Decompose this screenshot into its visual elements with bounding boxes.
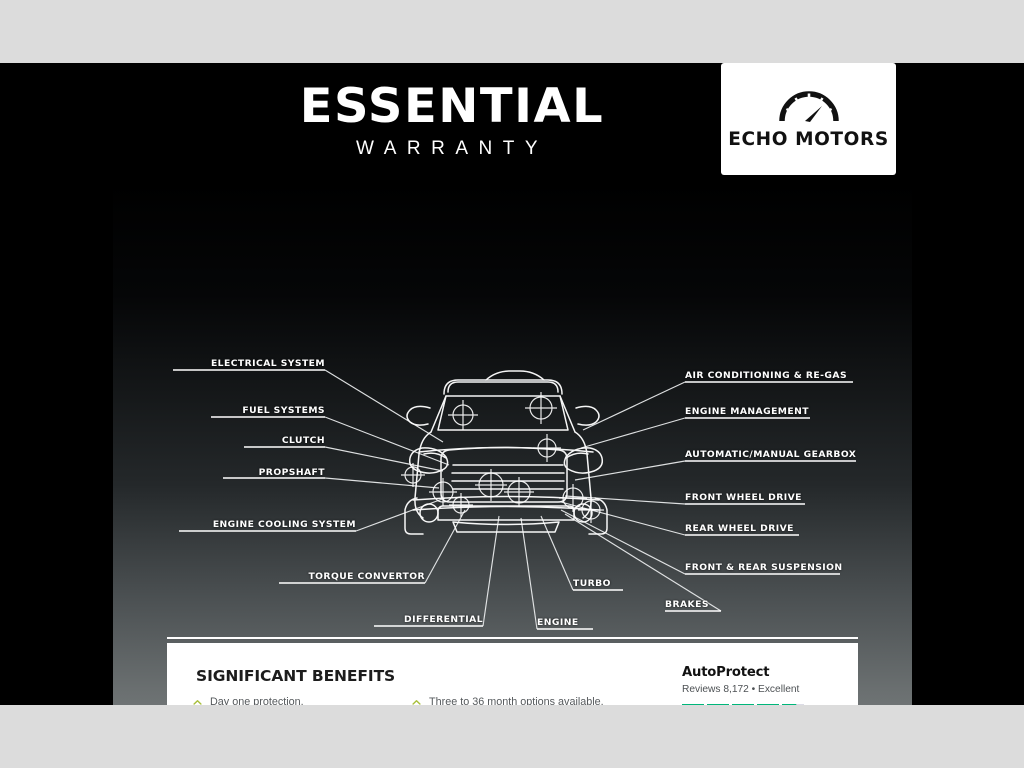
diagram-label-automatic-manual-gearbox: AUTOMATIC/MANUAL GEARBOX: [685, 449, 856, 460]
diagram-label-electrical-system: ELECTRICAL SYSTEM: [173, 358, 325, 369]
significant-benefits-panel: SIGNIFICANT BENEFITS Day one protection.…: [167, 643, 858, 705]
diagram-label-engine: ENGINE: [537, 617, 579, 628]
diagram-label-engine-management: ENGINE MANAGEMENT: [685, 406, 809, 417]
diagram-label-air-conditioning-re-gas: AIR CONDITIONING & RE-GAS: [685, 370, 847, 381]
screenshot-root: ESSENTIAL WARRANTY ECHO MOTORS 3 MONTH C…: [0, 0, 1024, 768]
car-diagram-lines: [113, 180, 912, 705]
star-icon: [707, 704, 729, 705]
chevron-up-icon: [412, 698, 421, 705]
diagram-label-turbo: TURBO: [573, 578, 611, 589]
logo-text: ECHO MOTORS: [728, 129, 889, 150]
diagram-label-clutch: CLUTCH: [244, 435, 325, 446]
speedometer-gauge-icon: [778, 89, 840, 123]
panel-title: SIGNIFICANT BENEFITS: [196, 667, 395, 685]
panel-divider-rule: [167, 637, 858, 639]
echo-motors-logo: ECHO MOTORS: [721, 63, 896, 175]
star-icon-partial: [782, 704, 804, 705]
star-rating: 4.7: [682, 704, 828, 705]
diagram-label-torque-convertor: TORQUE CONVERTOR: [279, 571, 425, 582]
star-icon: [732, 704, 754, 705]
leader-lines: [325, 370, 721, 629]
trustpilot-rating: AutoProtect Reviews 8,172 • Excellent: [682, 665, 828, 705]
benefits-column-1: Day one protection. Includes parts, labo…: [193, 693, 358, 705]
diagram-label-front-wheel-drive: FRONT WHEEL DRIVE: [685, 492, 802, 503]
diagram-label-fuel-systems: FUEL SYSTEMS: [211, 405, 325, 416]
vehicle-coverage-diagram: ELECTRICAL SYSTEM FUEL SYSTEMS CLUTCH PR…: [113, 180, 912, 705]
diagram-label-front-rear-suspension: FRONT & REAR SUSPENSION: [685, 562, 843, 573]
chevron-up-icon: [193, 698, 202, 705]
benefit-item: Three to 36 month options available.: [412, 693, 604, 705]
diagram-label-brakes: BRAKES: [665, 599, 709, 610]
promo-banner: ESSENTIAL WARRANTY ECHO MOTORS 3 MONTH C…: [0, 63, 1024, 705]
benefit-text: Three to 36 month options available.: [429, 693, 604, 705]
benefit-text: Day one protection.: [210, 693, 304, 705]
benefits-column-2: Three to 36 month options available. Str…: [412, 693, 604, 705]
diagram-label-rear-wheel-drive: REAR WHEEL DRIVE: [685, 523, 794, 534]
diagram-label-propshaft: PROPSHAFT: [223, 467, 325, 478]
car-outline: [405, 371, 607, 534]
star-icon: [757, 704, 779, 705]
star-icon: [682, 704, 704, 705]
benefit-item: Day one protection.: [193, 693, 358, 705]
diagram-label-engine-cooling-system: ENGINE COOLING SYSTEM: [179, 519, 356, 530]
autoprotect-name: AutoProtect: [682, 665, 828, 680]
reviews-meta: Reviews 8,172 • Excellent: [682, 684, 828, 695]
diagram-label-differential: DIFFERENTIAL: [374, 614, 483, 625]
